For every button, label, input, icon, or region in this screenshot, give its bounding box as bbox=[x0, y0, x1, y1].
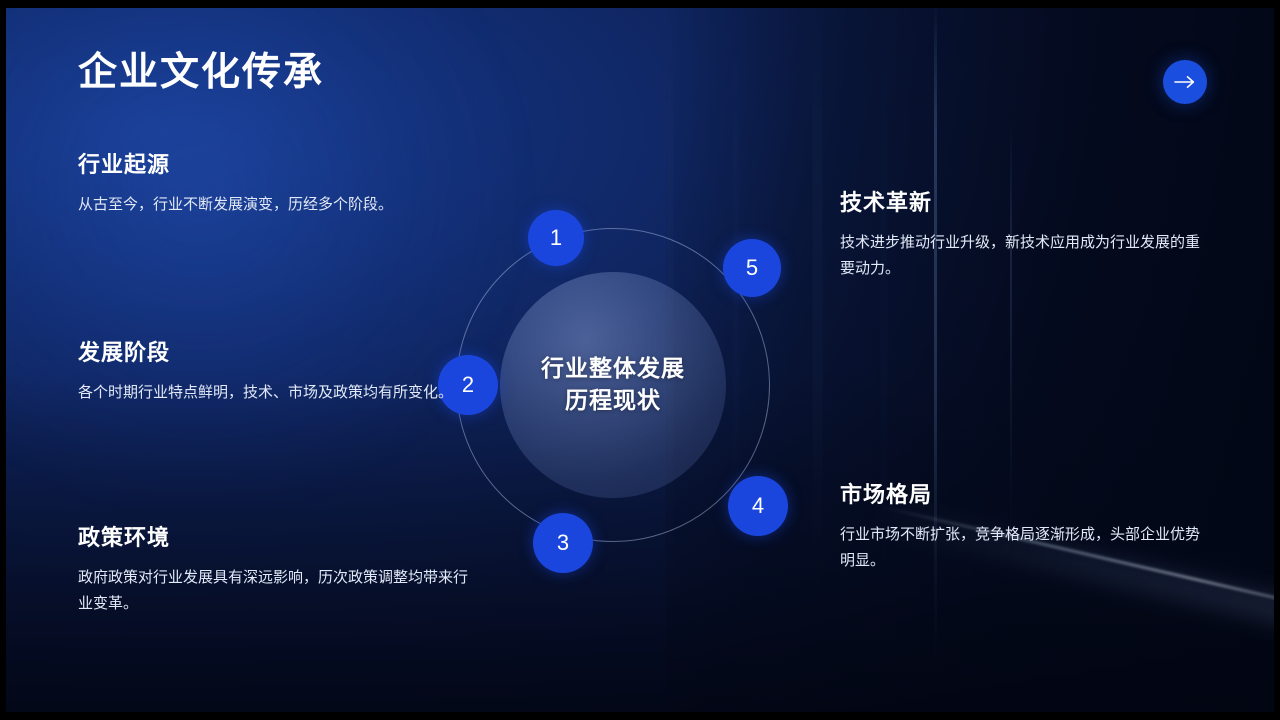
diagram-node-5[interactable]: 5 bbox=[723, 239, 781, 297]
content-block-policy-environment: 政策环境 政府政策对行业发展具有深远影响，历次政策调整均带来行业变革。 bbox=[78, 525, 478, 617]
diagram-center-hub: 行业整体发展 历程现状 bbox=[500, 272, 726, 498]
block-title: 发展阶段 bbox=[78, 340, 458, 366]
block-body: 行业市场不断扩张，竞争格局逐渐形成，头部企业优势明显。 bbox=[840, 522, 1212, 574]
diagram-center-line-1: 行业整体发展 bbox=[541, 353, 685, 385]
content-block-development-stage: 发展阶段 各个时期行业特点鲜明，技术、市场及政策均有所变化。 bbox=[78, 340, 458, 406]
diagram-node-4[interactable]: 4 bbox=[728, 476, 788, 536]
diagram-center-label: 行业整体发展 历程现状 bbox=[541, 353, 685, 416]
block-title: 市场格局 bbox=[840, 482, 1212, 508]
block-body: 从古至今，行业不断发展演变，历经多个阶段。 bbox=[78, 192, 458, 218]
content-block-industry-origin: 行业起源 从古至今，行业不断发展演变，历经多个阶段。 bbox=[78, 152, 458, 218]
circular-diagram: 行业整体发展 历程现状 1 2 3 4 5 bbox=[456, 228, 770, 542]
presentation-slide: 企业文化传承 行业整体发展 历程现状 1 2 3 4 5 行业起源 从古至今，行… bbox=[0, 0, 1280, 720]
block-title: 行业起源 bbox=[78, 152, 458, 178]
diagram-node-1[interactable]: 1 bbox=[528, 210, 584, 266]
next-slide-button[interactable] bbox=[1163, 60, 1207, 104]
page-title: 企业文化传承 bbox=[78, 50, 324, 97]
block-body: 政府政策对行业发展具有深远影响，历次政策调整均带来行业变革。 bbox=[78, 565, 478, 617]
content-block-market-landscape: 市场格局 行业市场不断扩张，竞争格局逐渐形成，头部企业优势明显。 bbox=[840, 482, 1212, 574]
arrow-right-icon bbox=[1174, 75, 1196, 89]
block-title: 技术革新 bbox=[840, 190, 1212, 216]
diagram-node-3[interactable]: 3 bbox=[533, 513, 593, 573]
content-block-technology-innovation: 技术革新 技术进步推动行业升级，新技术应用成为行业发展的重要动力。 bbox=[840, 190, 1212, 282]
block-body: 各个时期行业特点鲜明，技术、市场及政策均有所变化。 bbox=[78, 380, 458, 406]
block-body: 技术进步推动行业升级，新技术应用成为行业发展的重要动力。 bbox=[840, 230, 1212, 282]
diagram-center-line-2: 历程现状 bbox=[541, 385, 685, 417]
block-title: 政策环境 bbox=[78, 525, 478, 551]
